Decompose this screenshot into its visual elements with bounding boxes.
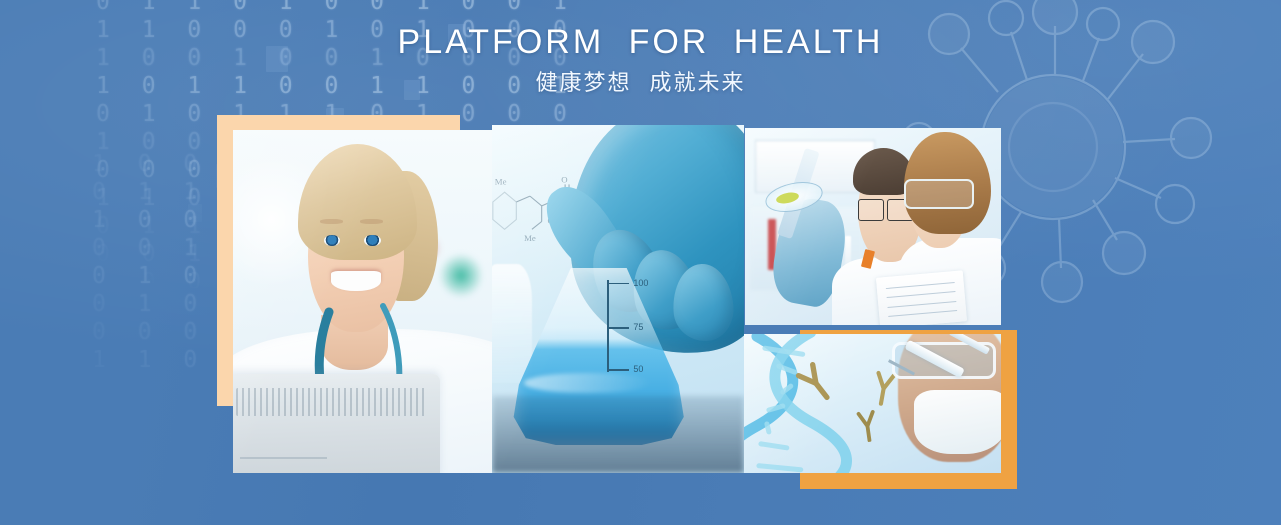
graduation-label-50: 50 [633, 364, 643, 374]
safety-goggles-icon [904, 179, 975, 209]
graduation-tick [607, 283, 629, 285]
syringe-icon [883, 334, 996, 390]
graduation-label-75: 75 [633, 322, 643, 332]
photo-two-scientists [745, 128, 1001, 325]
photo-doctor-at-monitor [233, 130, 492, 473]
graduation-label-100: 100 [633, 278, 648, 288]
computer-monitor [233, 374, 440, 473]
notepad [876, 270, 967, 325]
notepad-line [886, 282, 955, 289]
svg-text:O: O [561, 174, 567, 184]
notepad-line [888, 310, 957, 317]
notepad-line [887, 300, 956, 307]
bench-shadow [492, 396, 744, 473]
graduation-axis [607, 280, 609, 371]
face-mask [914, 390, 1001, 454]
notepad-line [886, 291, 955, 298]
photo-dna-researcher [744, 334, 1001, 473]
flask-graduation-scale: 100 75 50 [607, 276, 673, 393]
eyeglass-lens-left [858, 199, 885, 221]
photo-gloved-hand-flask: Me O O OH Me [492, 125, 744, 473]
antibody-molecule-icon [850, 407, 885, 444]
svg-text:Me: Me [524, 233, 536, 243]
svg-text:Me: Me [495, 176, 507, 186]
monitor-vents [236, 388, 427, 416]
monitor-seam [240, 457, 327, 459]
graduation-tick [607, 369, 629, 371]
syringe-plunger [949, 334, 990, 355]
graduation-tick [607, 327, 629, 329]
syringe-needle [888, 360, 915, 376]
health-platform-banner: 0 1 1 0 1 0 0 1 0 0 1 0 1 1 0 0 0 1 1 0 … [0, 0, 1281, 525]
